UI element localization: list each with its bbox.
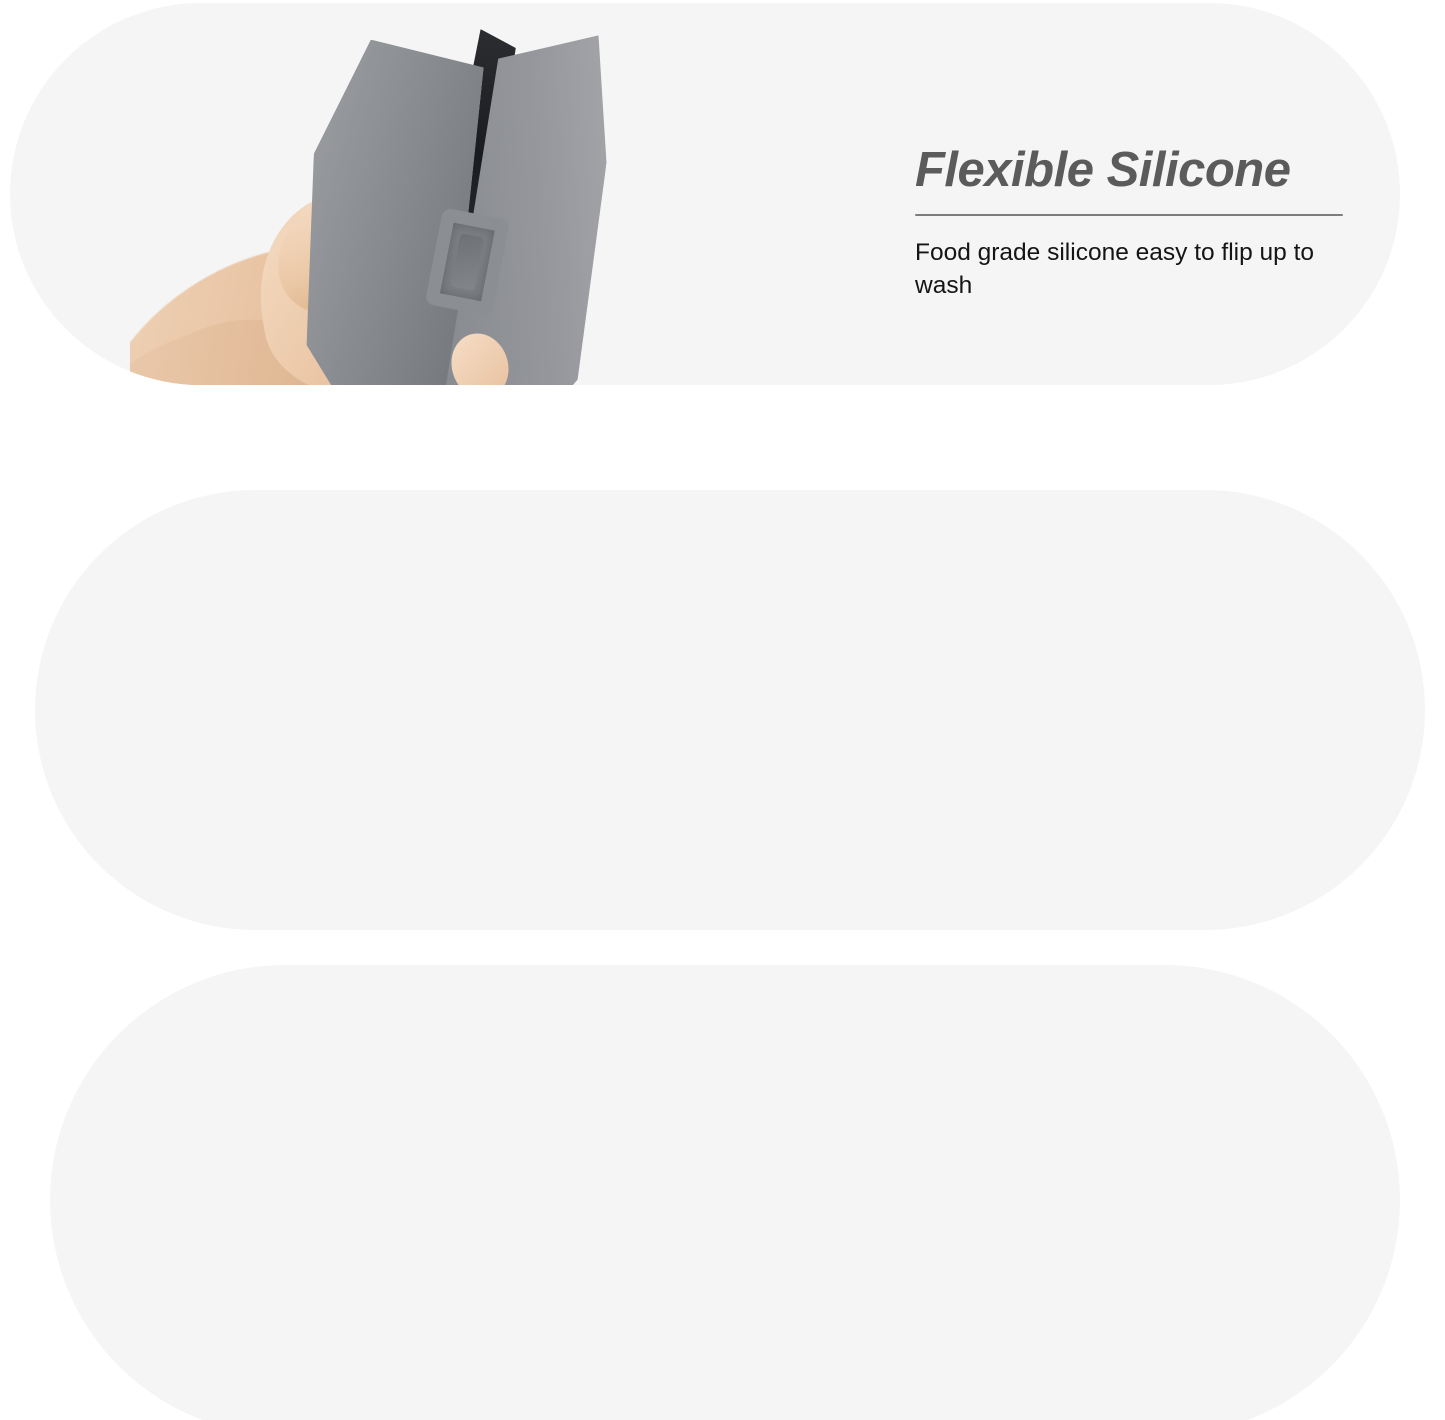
product-photo-flexible-silicone	[130, 3, 770, 385]
feature-card-oil-drainage-design: Oil Drainage Design 3D drainage groove o…	[35, 490, 1425, 930]
feature-heading: Flexible Silicone	[915, 145, 1375, 196]
feature-card-strong-handles: Strong Handles Convenient for you to tra…	[50, 965, 1400, 1420]
infographic-page: Flexible Silicone Food grade silicone ea…	[0, 0, 1445, 1420]
handle-inner-face	[450, 233, 484, 291]
feature-description: Food grade silicone easy to flip up to w…	[915, 237, 1367, 302]
feature-text-flexible-silicone: Flexible Silicone Food grade silicone ea…	[915, 145, 1375, 302]
heading-divider	[915, 214, 1343, 216]
feature-card-flexible-silicone: Flexible Silicone Food grade silicone ea…	[10, 3, 1400, 385]
silicone-basket-folded	[284, 7, 615, 385]
